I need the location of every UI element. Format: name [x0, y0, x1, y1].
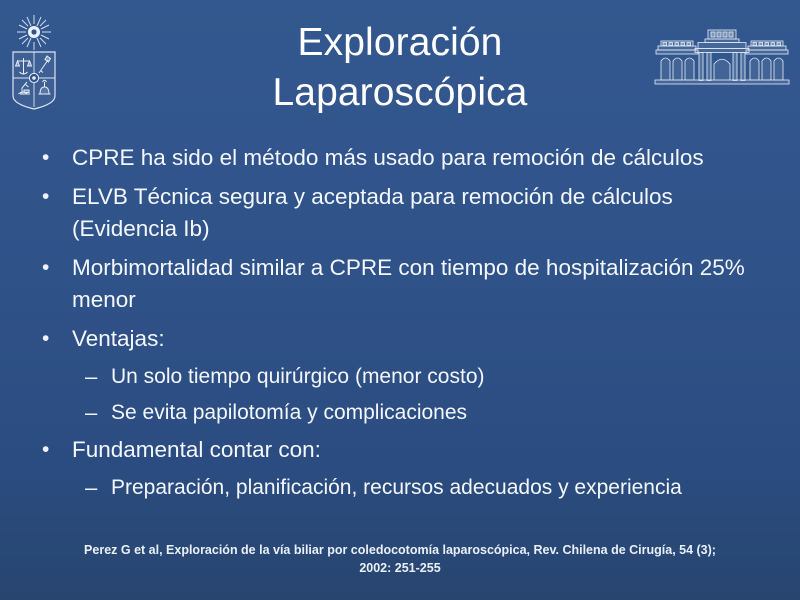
bullet-dash-icon: –: [85, 362, 111, 392]
bullet-text: Se evita papilotomía y complicaciones: [111, 398, 721, 428]
bullet-text: Morbimortalidad similar a CPRE con tiemp…: [72, 252, 762, 316]
slide-title: Exploración Laparoscópica: [120, 18, 680, 118]
bullet-item: –Se evita papilotomía y complicaciones: [0, 398, 800, 428]
presentation-slide: Exploración Laparoscópica: [0, 0, 800, 600]
bullet-item: •CPRE ha sido el método más usado para r…: [0, 142, 800, 174]
bullet-text: Un solo tiempo quirúrgico (menor costo): [111, 362, 721, 392]
bullet-dot-icon: •: [42, 323, 72, 355]
bullet-item: –Un solo tiempo quirúrgico (menor costo): [0, 362, 800, 392]
bullet-dot-icon: •: [42, 434, 72, 466]
bullet-item: •Ventajas:: [0, 323, 800, 355]
bullet-text: ELVB Técnica segura y aceptada para remo…: [72, 181, 762, 245]
slide-header: Exploración Laparoscópica: [0, 0, 800, 135]
bullet-item: •Morbimortalidad similar a CPRE con tiem…: [0, 252, 800, 316]
title-line-1: Exploración: [120, 18, 680, 68]
slide-body: •CPRE ha sido el método más usado para r…: [0, 142, 800, 509]
bullet-dot-icon: •: [42, 181, 72, 213]
bullet-item: •ELVB Técnica segura y aceptada para rem…: [0, 181, 800, 245]
citation-line-2: 2002: 251-255: [40, 559, 760, 577]
bullet-dash-icon: –: [85, 398, 111, 428]
bullet-text: CPRE ha sido el método más usado para re…: [72, 142, 762, 174]
bullet-item: –Preparación, planificación, recursos ad…: [0, 473, 800, 503]
bullet-text: Fundamental contar con:: [72, 434, 762, 466]
bullet-dot-icon: •: [42, 142, 72, 174]
bullet-dash-icon: –: [85, 473, 111, 503]
bullet-text: Ventajas:: [72, 323, 762, 355]
bullet-item: •Fundamental contar con:: [0, 434, 800, 466]
citation-footnote: Perez G et al, Exploración de la vía bil…: [40, 541, 760, 577]
citation-line-1: Perez G et al, Exploración de la vía bil…: [40, 541, 760, 559]
casa-central-building-icon: [652, 28, 792, 90]
universidad-de-chile-crest-icon: [6, 12, 62, 112]
bullet-text: Preparación, planificación, recursos ade…: [111, 473, 721, 503]
title-line-2: Laparoscópica: [120, 68, 680, 118]
bullet-dot-icon: •: [42, 252, 72, 284]
